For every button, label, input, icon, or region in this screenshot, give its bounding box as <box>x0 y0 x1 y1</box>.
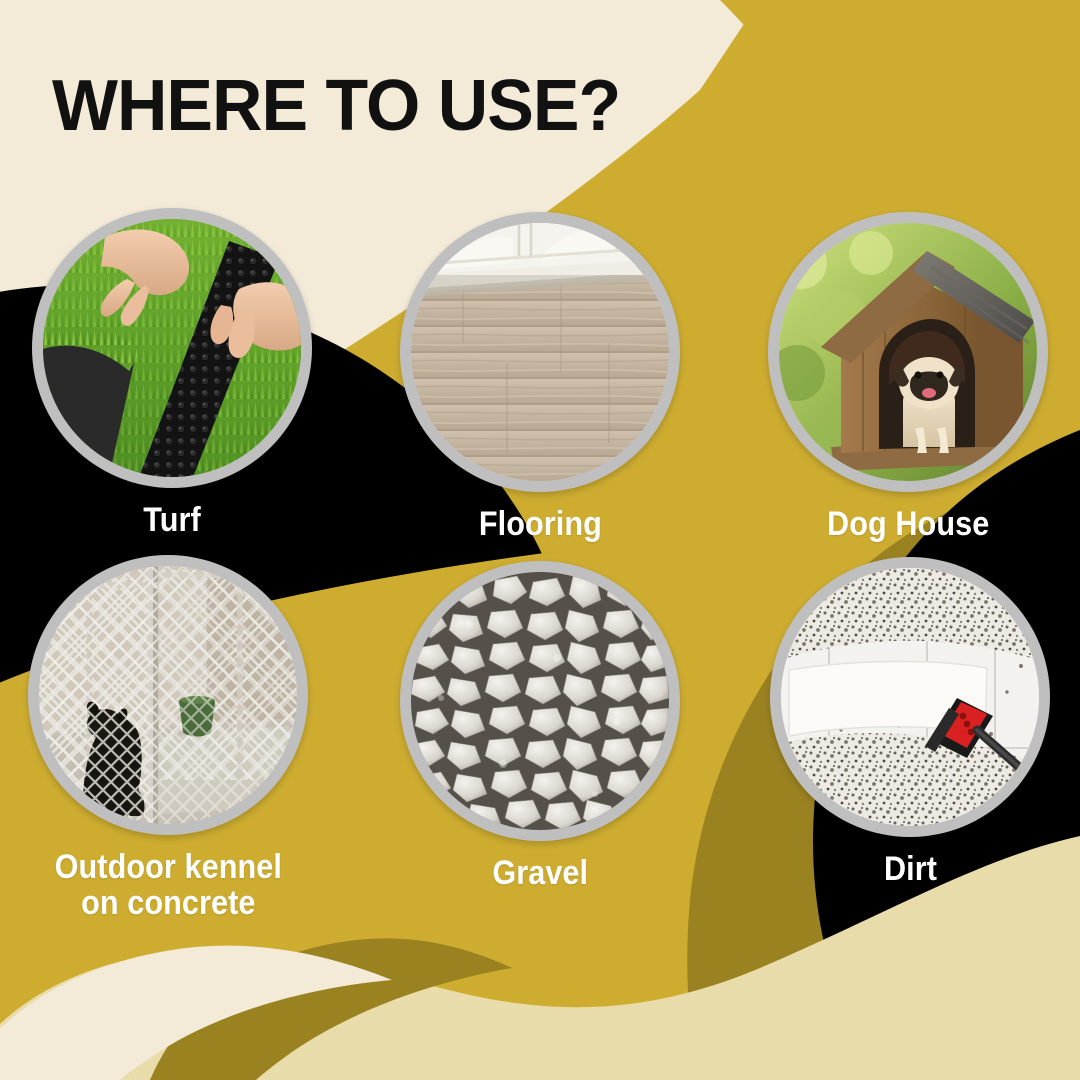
dirt-photo <box>781 568 1039 826</box>
use-case-label: Turf <box>143 502 201 538</box>
dog-house-photo <box>779 223 1037 481</box>
use-case-label: Flooring <box>478 506 601 542</box>
use-case-card-turf[interactable]: Turf <box>0 208 352 553</box>
use-case-label: Outdoor kennel on concrete <box>54 849 281 921</box>
circle-frame <box>770 557 1050 837</box>
use-case-label: Dog House <box>827 506 989 542</box>
use-case-grid: Turf <box>0 196 1080 886</box>
turf-photo <box>43 219 301 477</box>
use-case-label: Gravel <box>492 855 588 891</box>
circle-frame <box>768 212 1048 492</box>
gravel-photo <box>411 572 669 830</box>
circle-frame <box>400 561 680 841</box>
infographic-canvas: WHERE TO USE? <box>0 0 1080 1080</box>
use-case-card-outdoor-kennel[interactable]: Outdoor kennel on concrete <box>0 555 348 900</box>
pug-dog <box>894 357 964 453</box>
outdoor-kennel-photo <box>39 566 297 824</box>
use-case-card-dirt[interactable]: Dirt <box>730 557 1080 902</box>
circle-frame <box>28 555 308 835</box>
flooring-photo <box>411 223 669 481</box>
circle-frame <box>32 208 312 488</box>
circle-frame <box>400 212 680 492</box>
use-case-card-flooring[interactable]: Flooring <box>360 212 720 557</box>
page-title: WHERE TO USE? <box>52 70 620 142</box>
use-case-card-gravel[interactable]: Gravel <box>360 561 720 906</box>
use-case-card-dog-house[interactable]: Dog House <box>728 212 1080 557</box>
use-case-label: Dirt <box>883 851 936 887</box>
